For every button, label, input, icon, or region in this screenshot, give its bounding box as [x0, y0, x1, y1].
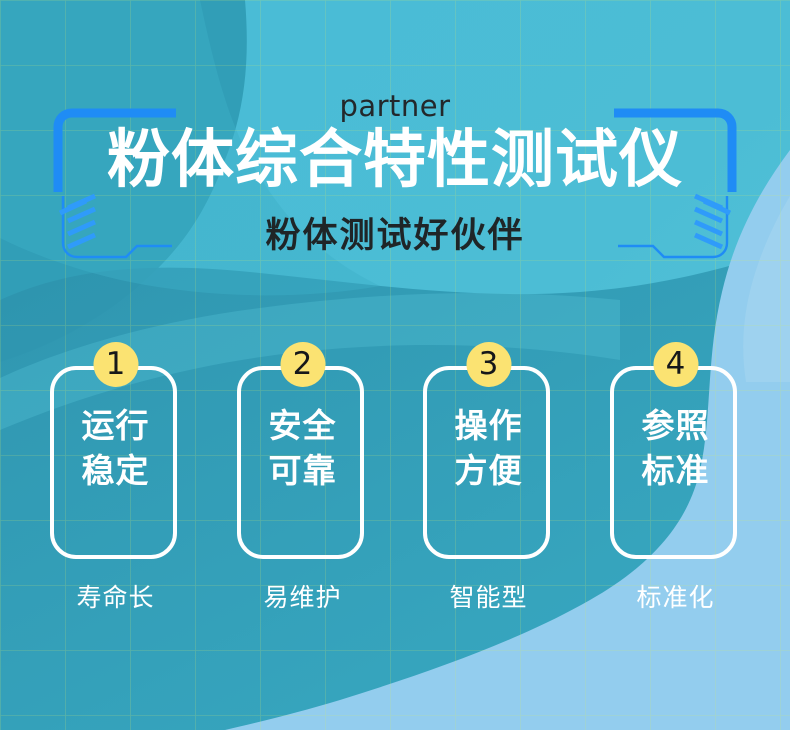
feature-caption-4: 标准化	[610, 586, 741, 611]
feature-badge-4: 4	[653, 342, 698, 387]
feature-caption-1: 寿命长	[50, 586, 181, 611]
feature-badge-1: 1	[93, 342, 138, 387]
feature-line1-1: 运行	[50, 404, 181, 449]
feature-card-3[interactable]: 3 操作 方便	[423, 366, 554, 563]
feature-card-text-1: 运行 稳定	[50, 404, 181, 493]
feature-line1-2: 安全	[237, 404, 368, 449]
feature-card-2[interactable]: 2 安全 可靠	[237, 366, 368, 563]
feature-line1-3: 操作	[423, 404, 554, 449]
feature-badge-3: 3	[466, 342, 511, 387]
feature-card-text-4: 参照 标准	[610, 404, 741, 493]
feature-card-1[interactable]: 1 运行 稳定	[50, 366, 181, 563]
feature-line1-4: 参照	[610, 404, 741, 449]
feature-card-list: 1 运行 稳定 寿命长 2 安全 可靠 易维护 3 操作 方便 智能型	[0, 0, 790, 730]
feature-line2-4: 标准	[610, 449, 741, 494]
poster-canvas: partner 粉体综合特性测试仪 粉体测试好伙伴 1 运行 稳定 寿命长 2 …	[0, 0, 790, 730]
feature-card-text-3: 操作 方便	[423, 404, 554, 493]
feature-card-text-2: 安全 可靠	[237, 404, 368, 493]
feature-line2-2: 可靠	[237, 449, 368, 494]
feature-line2-3: 方便	[423, 449, 554, 494]
feature-caption-3: 智能型	[423, 586, 554, 611]
feature-line2-1: 稳定	[50, 449, 181, 494]
feature-caption-2: 易维护	[237, 586, 368, 611]
feature-card-4[interactable]: 4 参照 标准	[610, 366, 741, 563]
feature-badge-2: 2	[280, 342, 325, 387]
